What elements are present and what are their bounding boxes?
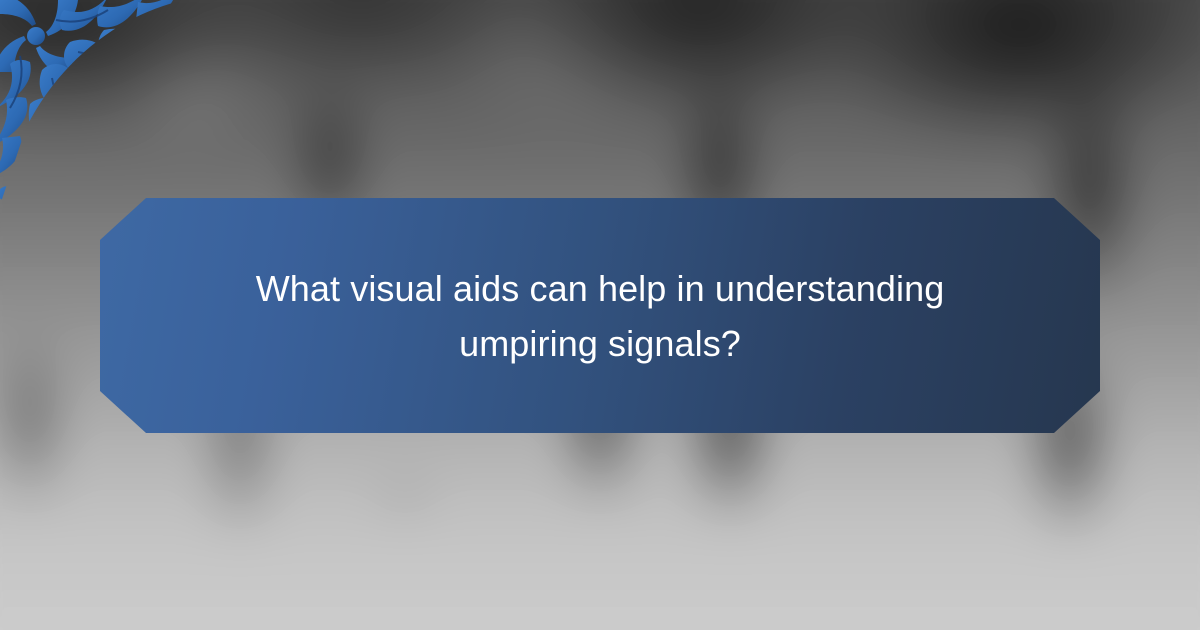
question-card: What visual aids can help in understandi… [0,0,1200,630]
question-banner: What visual aids can help in understandi… [100,198,1100,433]
question-text: What visual aids can help in understandi… [220,261,980,371]
